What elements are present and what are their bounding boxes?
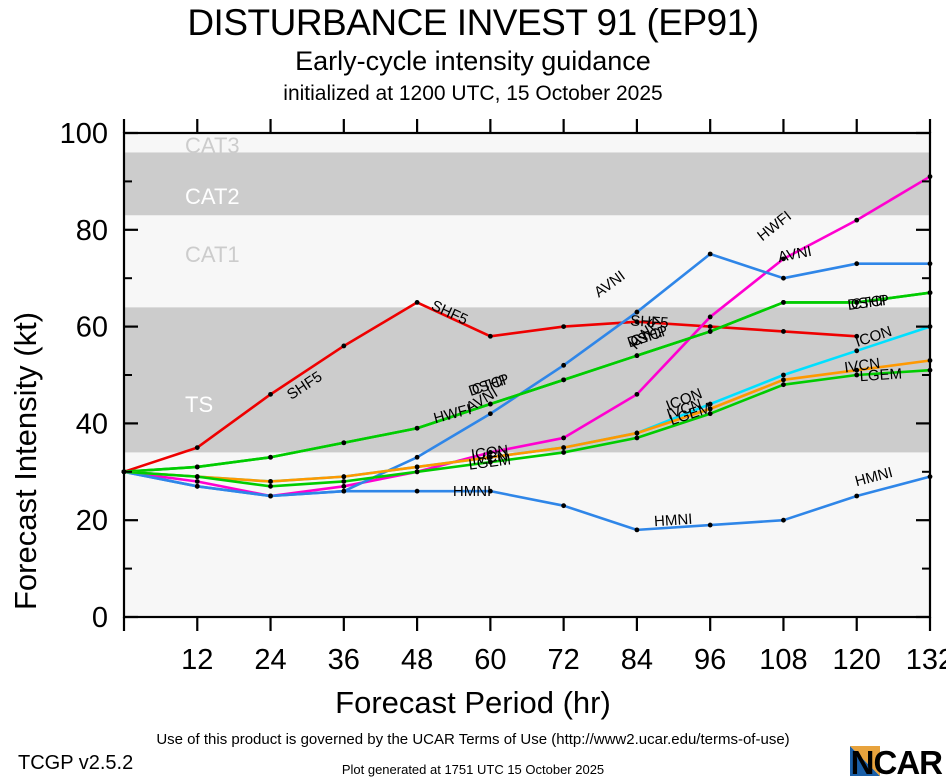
data-point xyxy=(195,445,200,450)
data-point xyxy=(854,261,859,266)
data-point xyxy=(635,436,640,441)
data-point xyxy=(781,300,786,305)
data-point xyxy=(635,392,640,397)
band-label-cat1: CAT1 xyxy=(185,242,240,267)
intensity-guidance-plot: TSCAT1CAT2CAT3SHF5SHF5SHF5HWFIHWFIHWFIAV… xyxy=(0,0,946,780)
x-tick-label: 48 xyxy=(401,644,433,676)
ncar-logo-text: NCAR xyxy=(851,744,942,782)
x-tick-label: 24 xyxy=(254,644,286,676)
data-point xyxy=(195,484,200,489)
x-tick-label: 60 xyxy=(474,644,506,676)
y-tick-label: 60 xyxy=(76,312,108,344)
data-point xyxy=(561,363,566,368)
band-ts xyxy=(124,307,930,452)
data-point xyxy=(708,324,713,329)
y-tick-label: 40 xyxy=(76,408,108,440)
data-point xyxy=(415,465,420,470)
data-point xyxy=(195,465,200,470)
band-cat3 xyxy=(124,133,930,152)
data-point xyxy=(268,455,273,460)
x-tick-label: 132 xyxy=(906,644,946,676)
data-point xyxy=(561,324,566,329)
data-point xyxy=(561,445,566,450)
x-tick-label: 12 xyxy=(181,644,213,676)
band-label-cat3: CAT3 xyxy=(185,133,240,158)
x-tick-label: 120 xyxy=(833,644,881,676)
data-point xyxy=(635,527,640,532)
data-point xyxy=(781,518,786,523)
data-point xyxy=(341,484,346,489)
version-label: TCGP v2.5.2 xyxy=(18,752,133,775)
data-point xyxy=(708,329,713,334)
data-point xyxy=(635,431,640,436)
data-point xyxy=(268,392,273,397)
data-point xyxy=(341,489,346,494)
data-point xyxy=(854,494,859,499)
data-point xyxy=(781,377,786,382)
data-point xyxy=(195,479,200,484)
y-tick-label: 80 xyxy=(76,215,108,247)
series-label-lgem: LGEM xyxy=(859,365,903,385)
data-point xyxy=(415,300,420,305)
data-point xyxy=(854,218,859,223)
ncar-logo: NCAR xyxy=(802,742,942,780)
data-point xyxy=(341,479,346,484)
series-label-hmni: HMNI xyxy=(453,483,491,500)
data-point xyxy=(268,484,273,489)
data-point xyxy=(195,474,200,479)
y-tick-label: 100 xyxy=(60,118,108,150)
data-point xyxy=(561,436,566,441)
band-cat2 xyxy=(124,152,930,215)
series-label-hmni: HMNI xyxy=(654,511,693,531)
data-point xyxy=(708,252,713,257)
data-point xyxy=(268,479,273,484)
data-point xyxy=(561,377,566,382)
chart-page: DISTURBANCE INVEST 91 (EP91) Early-cycle… xyxy=(0,0,946,780)
data-point xyxy=(781,382,786,387)
data-point xyxy=(561,503,566,508)
x-tick-label: 36 xyxy=(328,644,360,676)
y-tick-label: 0 xyxy=(92,602,108,634)
data-point xyxy=(341,344,346,349)
data-point xyxy=(781,329,786,334)
data-point xyxy=(341,440,346,445)
band-cat1 xyxy=(124,215,930,307)
data-point xyxy=(781,373,786,378)
y-tick-label: 20 xyxy=(76,505,108,537)
data-point xyxy=(635,353,640,358)
data-point xyxy=(415,469,420,474)
data-point xyxy=(415,455,420,460)
x-tick-label: 96 xyxy=(694,644,726,676)
data-point xyxy=(341,474,346,479)
band-below-ts xyxy=(124,452,930,617)
x-tick-label: 84 xyxy=(621,644,653,676)
x-tick-label: 108 xyxy=(759,644,807,676)
data-point xyxy=(708,523,713,528)
data-point xyxy=(415,426,420,431)
data-point xyxy=(781,276,786,281)
band-label-cat2: CAT2 xyxy=(185,184,240,209)
x-tick-label: 72 xyxy=(548,644,580,676)
data-point xyxy=(708,315,713,320)
data-point xyxy=(488,334,493,339)
data-point xyxy=(415,489,420,494)
band-label-ts: TS xyxy=(185,392,213,417)
data-point xyxy=(268,494,273,499)
data-point xyxy=(561,450,566,455)
data-point xyxy=(488,411,493,416)
